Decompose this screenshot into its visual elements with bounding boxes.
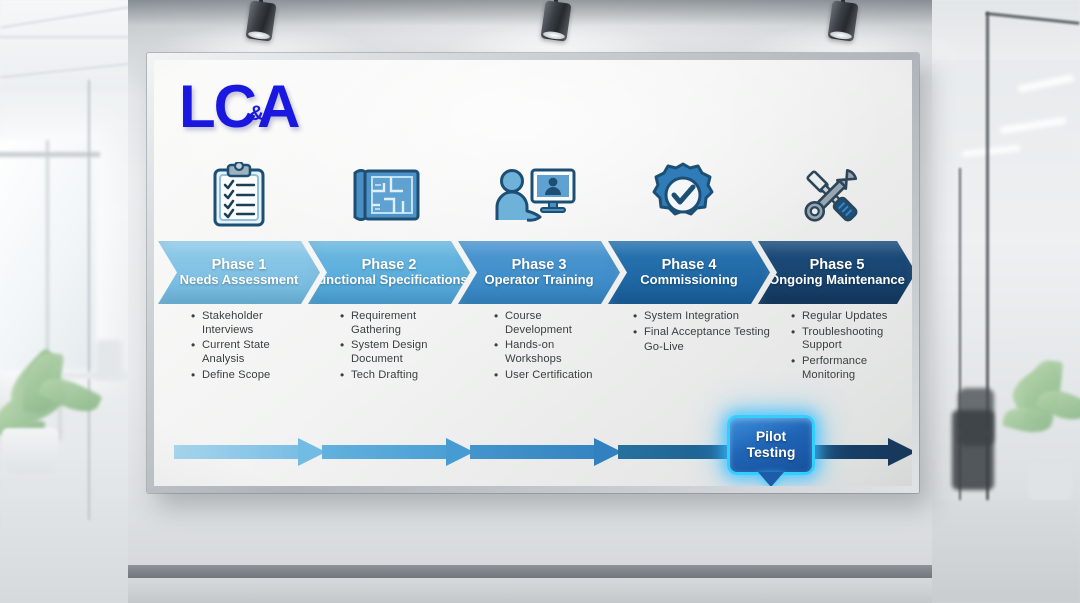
phase-4-bullets: System Integration Final Acceptance Test… [633, 310, 773, 357]
wall-baseboard [128, 565, 932, 578]
spotlight-housing [540, 0, 571, 41]
office-chair [96, 340, 122, 380]
phase-1-name: Needs Assessment [180, 273, 299, 287]
person-at-monitor-training-icon [494, 164, 576, 226]
phase-4-name: Commissioning [640, 273, 738, 287]
phase-chevron-2[interactable]: Phase 2 Functional Specifications [308, 241, 470, 304]
phase-5-icon-cell [756, 159, 906, 231]
phase-chevron-row: Phase 1 Needs Assessment Phase 2 Functio… [154, 241, 912, 304]
timeline-arrow-1 [174, 438, 324, 466]
phase-2-number: Phase 2 [362, 258, 417, 273]
list-item: Define Scope [191, 369, 311, 383]
office-chair [952, 410, 994, 490]
spotlight-housing [245, 0, 276, 41]
phase-3-icon-cell [460, 159, 610, 231]
phase-chevron-1[interactable]: Phase 1 Needs Assessment [158, 241, 320, 304]
phase-1-icon-cell [164, 159, 314, 231]
track-spotlight [248, 0, 274, 40]
list-item: Regular Updates [791, 310, 912, 324]
center-floor [128, 578, 932, 603]
phase-2-name: Functional Specifications [310, 273, 467, 287]
phase-4-icon-cell [608, 159, 758, 231]
list-item: Tech Drafting [340, 369, 460, 383]
timeline-arrow-2 [322, 438, 472, 466]
phase-3-number: Phase 3 [512, 258, 567, 273]
phase-1-number: Phase 1 [212, 258, 267, 273]
pilot-testing-line2: Testing [747, 445, 796, 461]
phase-3-name: Operator Training [484, 273, 593, 287]
right-ceiling [930, 0, 1080, 60]
plant-pot [1028, 462, 1072, 504]
phase-5-bullets: Regular Updates Troubleshooting Support … [791, 310, 912, 384]
phase-5-number: Phase 5 [810, 258, 865, 273]
phase-bullet-lists: Stakeholder Interviews Current State Ana… [154, 310, 912, 420]
glass-partition-left [88, 80, 90, 520]
plant-pot [2, 428, 58, 474]
spotlight-housing [827, 0, 858, 41]
phase-3-bullets: Course Development Hands-on Workshops Us… [494, 310, 598, 384]
phase-icon-row [154, 159, 912, 231]
phase-4-number: Phase 4 [662, 258, 717, 273]
list-item: System Design Document [340, 339, 460, 366]
logo-text-left: LC [179, 77, 255, 137]
presentation-board-frame: LC & A [147, 53, 919, 493]
timeline-arrow-3 [470, 438, 620, 466]
list-item: Current State Analysis [191, 339, 311, 366]
phase-chevron-3[interactable]: Phase 3 Operator Training [458, 241, 620, 304]
list-item: Course Development [494, 310, 598, 337]
list-item: Go-Live [633, 341, 773, 355]
list-item: Hands-on Workshops [494, 339, 598, 366]
window-mullion [46, 140, 49, 370]
list-item: Troubleshooting Support [791, 326, 912, 353]
office-scene: LC & A [0, 0, 1080, 603]
list-item: Requirement Gathering [340, 310, 460, 337]
track-spotlight [543, 0, 569, 40]
phase-5-name: Ongoing Maintenance [769, 273, 905, 287]
phase-2-bullets: Requirement Gathering System Design Docu… [340, 310, 460, 384]
presentation-board: LC & A [154, 60, 912, 486]
phase-2-icon-cell [312, 159, 462, 231]
pilot-testing-line1: Pilot [756, 429, 786, 445]
logo-text-right: A [257, 77, 298, 137]
list-item: User Certification [494, 369, 598, 383]
list-item: Stakeholder Interviews [191, 310, 311, 337]
logo-ampersand: & [249, 103, 262, 124]
clipboard-checklist-icon [208, 162, 270, 228]
pilot-testing-badge[interactable]: Pilot Testing [727, 415, 815, 475]
blueprint-floorplan-icon [351, 165, 423, 225]
right-floor [930, 500, 1080, 603]
spotlight-lens [543, 30, 566, 40]
track-spotlight [830, 0, 856, 40]
phase-chevron-4[interactable]: Phase 4 Commissioning [608, 241, 770, 304]
list-item: Performance Monitoring [791, 355, 912, 382]
gear-check-icon [650, 162, 716, 228]
list-item: Final Acceptance Testing [633, 326, 773, 340]
spotlight-lens [830, 30, 853, 40]
wrench-screwdriver-icon [795, 162, 867, 228]
list-item: System Integration [633, 310, 773, 324]
phase-chevron-5[interactable]: Phase 5 Ongoing Maintenance [758, 241, 912, 304]
phase-1-bullets: Stakeholder Interviews Current State Ana… [191, 310, 311, 384]
logo: LC & A [179, 77, 299, 137]
spotlight-lens [248, 30, 271, 40]
window-header [0, 152, 100, 157]
